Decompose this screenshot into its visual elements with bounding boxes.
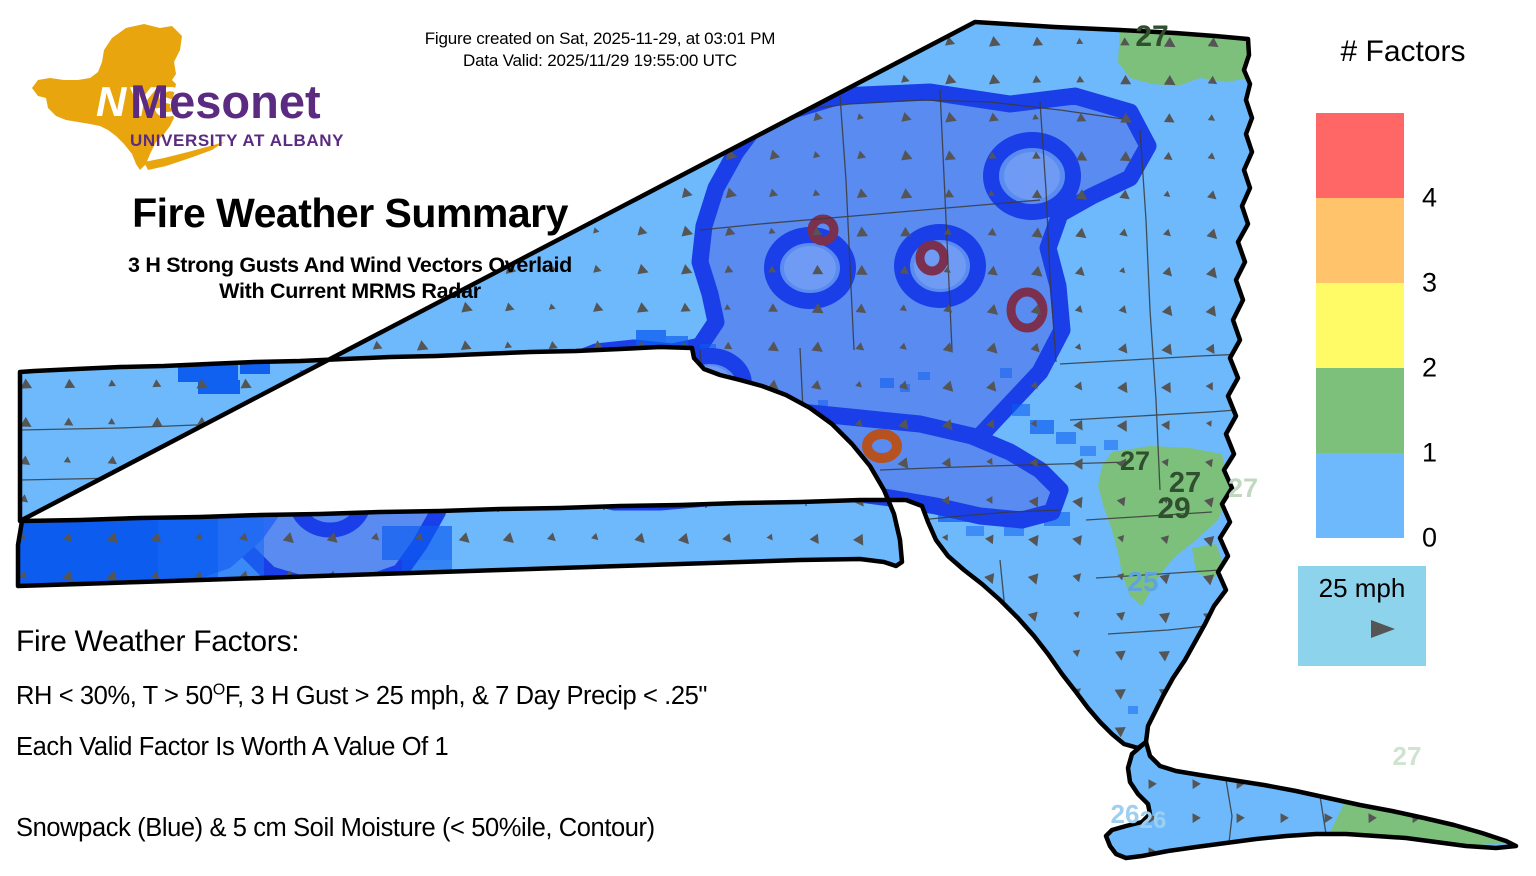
wind-arrow-icon	[233, 489, 249, 504]
wind-arrow-icon	[453, 150, 468, 158]
wind-arrow-icon	[714, 72, 735, 84]
wind-arrow-icon	[806, 716, 818, 734]
wind-arrow-icon	[540, 601, 557, 619]
wind-arrow-icon	[185, 335, 209, 353]
wind-arrow-icon	[756, 70, 782, 86]
wind-arrow-icon	[229, 411, 252, 430]
wind-arrow-icon	[1496, 734, 1514, 757]
wind-arrow-icon	[1364, 768, 1382, 791]
wind-key-label: 25 mph	[1298, 573, 1426, 604]
wind-arrow-icon	[937, 563, 951, 582]
gust-label: 26	[1111, 799, 1140, 829]
wind-arrow-icon	[626, 637, 647, 662]
wind-arrow-icon	[892, 712, 909, 739]
wind-arrow-icon	[405, 410, 429, 430]
wind-arrow-icon	[1232, 734, 1250, 757]
wind-arrow-icon	[450, 73, 471, 83]
wind-speed-reference-key: 25 mph	[1298, 566, 1426, 666]
wind-arrow-icon	[498, 75, 512, 81]
wind-arrow-icon	[409, 490, 424, 504]
wind-arrow-icon	[360, 372, 386, 392]
wind-arrow-icon	[495, 601, 513, 621]
wind-arrow-icon	[450, 637, 471, 660]
wind-arrow-icon	[362, 637, 383, 661]
wind-arrow-icon	[582, 148, 605, 160]
wind-arrow-icon	[449, 598, 473, 624]
wind-arrow-icon	[983, 715, 994, 734]
wind-arrow-icon	[1452, 768, 1470, 791]
wind-arrow-icon	[273, 336, 297, 354]
degree-symbol: O	[213, 682, 225, 699]
wind-arrow-icon	[850, 639, 863, 658]
wind-arrow-icon	[581, 110, 606, 122]
wind-arrow-icon	[1100, 768, 1118, 791]
snowpack-soil-note-line: Snowpack (Blue) & 5 cm Soil Moisture (< …	[16, 814, 655, 843]
wind-arrow-icon	[579, 372, 606, 394]
wind-arrow-icon	[800, 70, 825, 86]
wind-arrow-icon	[1496, 802, 1514, 825]
wind-arrow-icon	[1364, 734, 1382, 757]
wind-arrow-icon	[1204, 717, 1212, 733]
wind-arrow-icon	[717, 564, 733, 582]
wind-arrow-icon	[317, 411, 341, 431]
wind-arrow-icon	[98, 599, 120, 623]
wind-arrow-icon	[316, 484, 343, 509]
wind-arrow-icon	[1496, 768, 1514, 791]
wind-arrow-icon	[536, 373, 561, 393]
wind-arrow-icon	[319, 375, 338, 390]
wind-arrow-icon	[630, 717, 643, 733]
wind-arrow-icon	[405, 635, 429, 662]
wind-arrow-icon	[672, 111, 689, 120]
wind-arrow-icon	[671, 600, 690, 622]
wind-arrow-icon	[1028, 679, 1036, 694]
wind-arrow-icon	[582, 449, 604, 468]
wind-arrow-icon	[405, 111, 429, 122]
wind-arrow-icon	[537, 111, 561, 122]
gust-label: 25	[1127, 566, 1158, 597]
wind-arrow-icon	[672, 713, 690, 736]
gust-label: 29	[1157, 492, 1190, 525]
colorbar-band-1	[1316, 368, 1404, 453]
wind-arrow-icon	[716, 638, 733, 660]
wind-arrow-icon	[893, 35, 908, 45]
wind-arrow-icon	[494, 411, 516, 429]
wind-arrow-icon	[492, 484, 519, 508]
wind-arrow-icon	[450, 486, 472, 507]
fire-weather-factors-heading: Fire Weather Factors:	[16, 625, 299, 659]
wind-arrow-icon	[316, 447, 342, 470]
wind-arrow-icon	[673, 74, 689, 83]
wind-arrow-icon	[803, 636, 822, 662]
wind-arrow-icon	[893, 675, 908, 699]
wind-arrow-icon	[537, 711, 560, 738]
figure-created-line: Figure created on Sat, 2025-11-29, at 03…	[360, 28, 840, 50]
colorbar-tick-3: 3	[1422, 268, 1437, 299]
wind-arrow-icon	[273, 486, 297, 508]
subtitle-line-2: With Current MRMS Radar	[0, 278, 700, 304]
wind-arrow-icon	[629, 150, 644, 158]
wind-arrow-icon	[758, 635, 779, 662]
wind-arrow-icon	[673, 376, 688, 389]
wind-arrow-icon	[538, 73, 559, 83]
wind-arrow-icon	[536, 148, 562, 161]
wind-arrow-icon	[227, 334, 255, 354]
wind-arrow-icon	[275, 450, 295, 467]
factor-criteria-line: RH < 30%, T > 50OF, 3 H Gust > 25 mph, &…	[16, 682, 707, 711]
colorbar-title: # Factors	[1288, 35, 1518, 69]
wind-arrow-icon	[673, 640, 687, 657]
wind-arrow-icon	[359, 409, 386, 432]
wind-arrow-icon	[537, 485, 561, 507]
wind-arrow-icon	[98, 336, 121, 353]
wind-arrow-icon	[802, 560, 824, 587]
wind-arrow-icon	[846, 560, 867, 586]
colorbar-band-4	[1316, 113, 1404, 198]
colorbar-band-0	[1316, 453, 1404, 538]
wind-arrow-icon	[670, 148, 692, 161]
wind-arrow-icon	[625, 598, 649, 625]
wind-arrow-icon	[451, 450, 469, 466]
wind-arrow-icon	[625, 72, 648, 84]
wind-arrow-icon	[717, 602, 731, 619]
wind-arrow-icon	[581, 635, 604, 662]
wind-arrow-icon	[805, 676, 821, 698]
wind-arrow-icon	[580, 72, 605, 84]
colorbar-tick-labels: 43210	[1412, 113, 1472, 538]
wind-arrow-icon	[1203, 639, 1213, 659]
wind-arrow-icon	[1408, 768, 1426, 791]
wind-arrow-icon	[536, 447, 563, 470]
wind-arrow-icon	[1204, 679, 1212, 695]
wind-arrow-icon	[140, 485, 167, 509]
wind-arrow-icon	[96, 485, 121, 508]
colorbar-tick-0: 0	[1422, 523, 1437, 554]
wind-arrow-icon	[1276, 734, 1294, 757]
wind-arrow-icon	[360, 447, 386, 470]
wind-arrow-icon	[756, 108, 783, 124]
wind-arrow-icon	[849, 714, 863, 735]
wind-arrow-icon	[403, 372, 430, 393]
wind-arrow-icon	[712, 446, 738, 471]
wind-arrow-icon	[277, 716, 292, 734]
wind-arrow-icon	[405, 598, 429, 624]
wind-arrow-icon	[802, 597, 823, 624]
wind-arrow-icon	[56, 715, 72, 734]
data-valid-line: Data Valid: 2025/11/29 19:55:00 UTC	[360, 50, 840, 72]
wind-arrow-icon	[759, 712, 777, 737]
gust-label: 27	[1135, 20, 1168, 53]
wind-arrow-icon	[936, 712, 952, 738]
wind-arrow-icon	[51, 334, 78, 354]
wind-arrow-icon	[450, 374, 471, 391]
wind-arrow-icon	[936, 674, 953, 701]
colorbar-tick-1: 1	[1422, 438, 1437, 469]
factors-colorbar	[1316, 113, 1404, 538]
wind-arrow-icon	[187, 600, 207, 621]
page-title: Fire Weather Summary	[0, 190, 700, 237]
wind-arrow-icon	[713, 109, 738, 123]
wind-arrow-icon	[494, 713, 514, 737]
wind-arrow-icon	[893, 639, 907, 659]
wind-arrow-icon	[277, 414, 292, 427]
wind-arrow-icon	[538, 637, 558, 660]
wind-arrow-icon	[1364, 836, 1382, 859]
figure-timestamp-block: Figure created on Sat, 2025-11-29, at 03…	[360, 28, 840, 72]
wind-arrow-icon	[8, 335, 33, 354]
wind-arrow-icon	[845, 33, 868, 48]
wind-arrow-icon	[627, 111, 646, 121]
wind-arrow-icon	[494, 148, 517, 159]
wind-arrow-icon	[936, 636, 953, 662]
wind-arrow-icon	[759, 673, 779, 700]
wind-arrow-icon	[714, 711, 734, 738]
wind-arrow-icon	[715, 674, 734, 700]
wind-arrow-icon	[1188, 734, 1206, 757]
nys-mesonet-logo: NYS Mesonet UNIVERSITY AT ALBANY	[24, 22, 384, 182]
wind-arrow-icon	[1027, 715, 1037, 734]
wind-arrow-icon	[895, 603, 906, 618]
wind-arrow-icon	[1276, 836, 1294, 859]
wind-arrow-icon	[492, 448, 517, 470]
wind-arrow-icon	[145, 338, 161, 350]
wind-arrow-icon	[580, 410, 605, 432]
wind-arrow-icon	[496, 375, 514, 389]
wind-arrow-icon	[100, 715, 116, 734]
wind-arrow-icon	[273, 598, 296, 623]
wind-arrow-icon	[581, 598, 604, 623]
colorbar-tick-4: 4	[1422, 183, 1437, 214]
colorbar-tick-2: 2	[1422, 353, 1437, 384]
wind-arrow-icon	[1070, 713, 1083, 738]
wind-arrow-icon	[712, 409, 738, 433]
wind-arrow-icon	[320, 602, 337, 620]
wind-arrow-icon	[936, 599, 952, 623]
wind-arrow-icon	[669, 447, 693, 470]
wind-arrow-icon	[363, 601, 382, 621]
wind-arrow-icon	[454, 717, 467, 733]
page-subtitle: 3 H Strong Gusts And Wind Vectors Overla…	[0, 252, 700, 304]
wind-arrow-icon	[756, 409, 781, 433]
wind-arrow-icon	[407, 450, 427, 468]
logo-university-text: UNIVERSITY AT ALBANY	[130, 131, 344, 150]
wind-arrow-icon	[184, 447, 209, 469]
gust-label: 27	[1228, 473, 1258, 503]
wind-arrow-icon	[145, 603, 160, 619]
wind-arrow-icon	[758, 598, 778, 623]
wind-arrow-icon	[1320, 734, 1338, 757]
wind-arrow-icon	[496, 112, 514, 120]
colorbar-band-3	[1316, 198, 1404, 283]
wind-arrow-icon	[535, 409, 562, 431]
wind-arrow-icon	[583, 713, 603, 737]
gust-label: 26	[1140, 807, 1167, 834]
wind-arrow-icon	[1452, 734, 1470, 757]
wind-arrow-icon	[625, 373, 648, 392]
wind-key-arrow-icon	[1298, 616, 1426, 647]
wind-arrow-icon	[405, 72, 430, 83]
wind-arrow-icon	[981, 675, 995, 698]
wind-arrow-icon	[452, 414, 468, 428]
colorbar-band-2	[1316, 283, 1404, 368]
factor-value-line: Each Valid Factor Is Worth A Value Of 1	[16, 733, 448, 762]
wind-arrow-icon	[1320, 768, 1338, 791]
wind-arrow-icon	[760, 562, 778, 583]
wind-arrow-icon	[758, 448, 780, 470]
wind-arrow-icon	[628, 451, 644, 466]
wind-arrow-icon	[584, 489, 601, 505]
wind-arrow-icon	[186, 487, 208, 507]
wind-arrow-icon	[10, 599, 31, 622]
logo-mesonet-text: Mesonet	[130, 75, 321, 128]
subtitle-line-1: 3 H Strong Gusts And Wind Vectors Overla…	[0, 252, 700, 278]
wind-arrow-icon	[1320, 836, 1338, 859]
wind-arrow-icon	[1159, 715, 1168, 734]
gust-label: 27	[1120, 446, 1150, 476]
wind-arrow-icon	[452, 112, 469, 120]
wind-arrow-icon	[671, 411, 691, 429]
gust-label: 27	[1393, 741, 1422, 771]
wind-arrow-icon	[406, 149, 427, 160]
wind-arrow-icon	[361, 486, 384, 507]
wind-arrow-icon	[628, 413, 646, 429]
wind-arrow-icon	[231, 450, 249, 466]
wind-arrow-icon	[321, 640, 336, 656]
wind-arrow-icon	[228, 598, 253, 624]
wind-arrow-icon	[52, 598, 77, 625]
wind-arrow-icon	[806, 451, 820, 465]
wind-arrow-icon	[848, 599, 866, 622]
wind-arrow-icon	[321, 338, 337, 350]
wind-arrow-icon	[1452, 802, 1470, 825]
wind-arrow-icon	[979, 597, 997, 624]
criteria-pre: RH < 30%, T > 50	[16, 682, 213, 710]
wind-arrow-icon	[980, 636, 996, 662]
criteria-post: F, 3 H Gust > 25 mph, & 7 Day Precip < .…	[225, 682, 707, 710]
wind-arrow-icon	[851, 679, 862, 695]
wind-arrow-icon	[498, 641, 511, 656]
